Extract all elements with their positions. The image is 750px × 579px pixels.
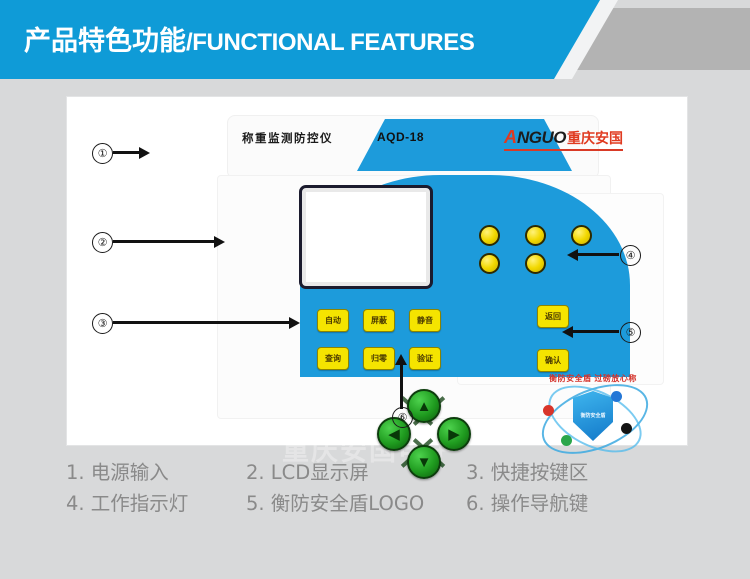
page-title: 产品特色功能/FUNCTIONAL FEATURES <box>24 19 474 58</box>
callout-3-number: ③ <box>92 313 113 334</box>
lamp-fault <box>525 253 546 274</box>
shield-dot-green <box>561 435 572 446</box>
device-blue-lower-body <box>300 335 630 377</box>
callout-1-line <box>113 151 141 154</box>
nav-right-icon[interactable]: ▶ <box>437 417 471 451</box>
shield-dot-black <box>621 423 632 434</box>
callout-3-arrowhead <box>289 317 300 329</box>
caption-item-3: 3. 快捷按键区 <box>466 456 588 485</box>
brand-name-cn: 重庆安国 <box>567 130 623 146</box>
caption-item-6: 6. 操作导航键 <box>466 487 588 516</box>
shield-dot-red <box>543 405 554 416</box>
caption-item-4: 4. 工作指示灯 <box>66 487 188 516</box>
caption-row: 1. 电源输入 2. LCD显示屏 3. 快捷按键区 <box>66 456 686 486</box>
callout-2-line <box>113 240 216 243</box>
page-title-cn: 产品特色功能 <box>24 26 186 56</box>
caption-item-1: 1. 电源输入 <box>66 456 169 485</box>
key-verify[interactable]: 验证 <box>409 347 441 370</box>
feature-caption-list: 1. 电源输入 2. LCD显示屏 3. 快捷按键区 4. 工作指示灯 5. 衡… <box>66 456 686 526</box>
shield-dot-blue <box>611 391 622 402</box>
brand-initial: A <box>504 127 517 147</box>
lamp-alarm <box>571 225 592 246</box>
device-name-label: 称重监测防控仪 <box>242 130 333 146</box>
product-image-card: 称重监测防控仪 AQD-18 ANGUO重庆安国 重庆安国电子 自动 屏蔽 静音… <box>66 96 688 446</box>
callout-5-arrowhead <box>562 326 573 338</box>
page-title-en: FUNCTIONAL FEATURES <box>192 29 474 56</box>
callout-5-line <box>572 330 619 333</box>
callout-4-arrowhead <box>567 249 578 261</box>
callout-1-arrowhead <box>139 147 150 159</box>
callout-2-number: ② <box>92 232 113 253</box>
key-shield[interactable]: 屏蔽 <box>363 309 395 332</box>
lamp-comm <box>479 253 500 274</box>
key-auto[interactable]: 自动 <box>317 309 349 332</box>
key-mute[interactable]: 静音 <box>409 309 441 332</box>
callout-6-line <box>400 363 403 409</box>
caption-item-5: 5. 衡防安全盾LOGO <box>246 487 424 516</box>
brand-logo: ANGUO重庆安国 <box>504 127 623 151</box>
shield-inner-text: 衡防安全盾 <box>580 413 605 419</box>
key-return[interactable]: 返回 <box>537 305 569 328</box>
brand-name: NGUO <box>517 128 566 147</box>
callout-5-number: ⑤ <box>620 322 641 343</box>
key-query[interactable]: 查询 <box>317 347 349 370</box>
caption-row: 4. 工作指示灯 5. 衡防安全盾LOGO 6. 操作导航键 <box>66 487 686 517</box>
lcd-display <box>299 185 433 289</box>
callout-2-arrowhead <box>214 236 225 248</box>
key-confirm[interactable]: 确认 <box>537 349 569 372</box>
callout-1-number: ① <box>92 143 113 164</box>
lamp-run <box>525 225 546 246</box>
shield-slogan: 衡防安全盾 过磅放心称 <box>533 373 653 384</box>
page-header: 产品特色功能/FUNCTIONAL FEATURES <box>0 0 750 84</box>
lamp-power <box>479 225 500 246</box>
callout-4-number: ④ <box>620 245 641 266</box>
key-zero[interactable]: 归零 <box>363 347 395 370</box>
caption-item-2: 2. LCD显示屏 <box>246 456 369 485</box>
callout-6-arrowhead <box>395 354 407 365</box>
safety-shield-logo: 衡防安全盾 过磅放心称 衡防安全盾 <box>533 373 653 459</box>
callout-3-line <box>113 321 291 324</box>
device-model-label: AQD-18 <box>377 130 424 144</box>
callout-4-line <box>577 253 619 256</box>
callout-6-number: ⑥ <box>392 407 413 428</box>
